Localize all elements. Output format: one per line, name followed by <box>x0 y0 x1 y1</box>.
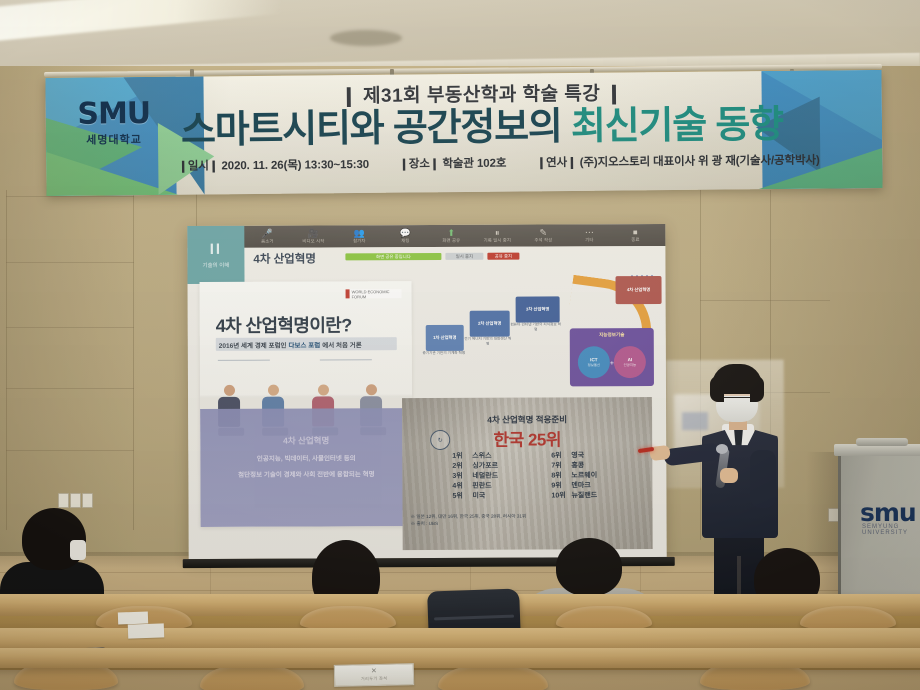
handout-paper <box>118 611 148 624</box>
pause-icon: ⏸ <box>475 228 519 238</box>
rank-row: 8위노르웨이 <box>551 471 632 481</box>
rank-row: 10위뉴질랜드 <box>551 491 632 501</box>
social-distancing-placard: ✕ 거리두기 좌석 <box>334 663 414 687</box>
camera-icon: 🎥 <box>291 228 335 238</box>
wall-outlet <box>58 493 69 508</box>
diagram-box-1: 1차 산업혁명 <box>426 325 464 351</box>
diagram-caption-3: 컴퓨터·인터넷 기반의 지식정보 혁명 <box>510 322 562 332</box>
wall-seam <box>700 300 830 301</box>
microphone-icon: 🎤 <box>245 229 289 239</box>
toolbar-share-label: 화면 공유 <box>429 238 473 244</box>
desk-row-1 <box>0 648 920 668</box>
wall-outlet <box>70 493 81 508</box>
toolbar-participants[interactable]: 👥 참가자 <box>337 228 381 244</box>
presenter-hair-side <box>710 376 724 402</box>
seat-back <box>800 606 896 630</box>
chat-icon: 💬 <box>383 228 427 238</box>
banner-title-part1: 스마트시티와 공간정보의 <box>181 106 562 152</box>
rank-row: 4위핀란드 <box>452 481 533 491</box>
rank-row: 3위네덜란드 <box>452 471 533 481</box>
stop-icon: ⏹ <box>613 227 657 237</box>
rank-row: 9위덴마크 <box>551 481 632 491</box>
microphone-head-icon <box>716 444 728 454</box>
wall-seam <box>6 388 134 389</box>
podium-smu-logo: smu <box>860 498 916 527</box>
toolbar-participants-label: 참가자 <box>337 238 381 244</box>
attendee-left-mask <box>70 540 86 560</box>
wef-logo: WORLD ECONOMIC FORUM <box>346 289 402 298</box>
venn-diagram: 지능정보기술 ICT 정보통신 + AI 인공지능 <box>570 328 654 386</box>
podium-lip <box>856 438 908 446</box>
toolbar-mute-label: 음소거 <box>245 239 289 245</box>
wall-seam <box>6 190 7 530</box>
wall-seam <box>6 196 134 197</box>
footer-line-3: 첨단정보 기술이 경제와 사회 전반에 융합되는 혁명 <box>200 468 412 479</box>
diagram-box-4-label: 4차 산업혁명 <box>627 287 650 292</box>
rank-column-left: 1위스위스 2위싱가포르 3위네덜란드 4위핀란드 5위미국 <box>452 452 533 502</box>
wall-seam <box>6 327 134 328</box>
korea-notes: ※ 일본 12위, 대만 16위, 한국 25위, 중국 28위, 러시아 31… <box>411 514 527 528</box>
diagram-box-3-label: 3차 산업혁명 <box>526 307 549 312</box>
slide-intro-card: WORLD ECONOMIC FORUM 4차 산업혁명이란? 2016년 세계… <box>200 281 413 527</box>
footer-line-2: 인공지능, 빅데이터, 사물인터넷 등의 <box>200 452 412 463</box>
toolbar-end[interactable]: ⏹ 종료 <box>613 227 657 243</box>
banner-place-value: 학술관 102호 <box>442 157 506 170</box>
slide-section-number: II <box>210 241 222 258</box>
rank-row: 1위스위스 <box>452 452 533 462</box>
smu-logo-subtitle: 세명대학교 <box>68 131 160 148</box>
stop-share-pill[interactable]: 공유 중지 <box>487 253 519 260</box>
venn-title: 지능정보기술 <box>570 332 654 338</box>
banner-title: 스마트시티와 공간정보의 최신기술 동향 <box>178 105 786 152</box>
banner-meta: ❙일시❙ 2020. 11. 26(목) 13:30~15:30 ❙장소❙ 학술… <box>178 152 786 174</box>
pause-status-pill: 일시 중지 <box>445 253 483 260</box>
rank-column-right: 6위영국 7위홍콩 8위노르웨이 9위덴마크 10위뉴질랜드 <box>551 451 632 501</box>
diagram-box-1-label: 1차 산업혁명 <box>433 335 456 340</box>
rank-row: 2위싱가포르 <box>452 461 533 471</box>
subtitle-pre: 2016년 세계 경제 포럼인 <box>219 339 287 349</box>
banner-date-tag: ❙일시❙ <box>178 160 218 172</box>
screen-surface: 🎤 음소거 🎥 비디오 시작 👥 참가자 💬 채팅 ⬆ 화면 공유 <box>187 224 666 559</box>
screen-share-icon: ⬆ <box>429 228 473 238</box>
subtitle-post: 에서 처음 거론 <box>322 339 362 349</box>
conference-toolbar[interactable]: 🎤 음소거 🎥 비디오 시작 👥 참가자 💬 채팅 ⬆ 화면 공유 <box>187 224 666 248</box>
ceiling-light-strip <box>0 0 281 42</box>
revolution-diagram: 1차 산업혁명 증기기관 기반의 기계화 혁명 2차 산업혁명 전기 에너지 기… <box>419 274 658 405</box>
wall-seam <box>6 450 134 451</box>
toolbar-annotate[interactable]: ✎ 주석 작성 <box>521 227 565 243</box>
toolbar-chat[interactable]: 💬 채팅 <box>383 228 427 244</box>
korea-note-2: ※ 출처 : UBS <box>411 521 527 528</box>
wall-seam <box>6 262 134 263</box>
card-rule <box>320 359 372 360</box>
venn-right-sub: 인공지능 <box>624 362 637 367</box>
event-banner: SMU 세명대학교 ❙ 제31회 부동산학과 학술 특강 ❙ 스마트시티와 공간… <box>45 70 882 196</box>
korea-kicker: 4차 산업혁명 적응준비 <box>402 413 652 426</box>
podium-smu-subtitle: SEMYUNG UNIVERSITY <box>862 524 920 536</box>
seat-back <box>556 606 652 630</box>
toolbar-end-label: 종료 <box>613 237 657 243</box>
rank-row: 6위영국 <box>551 451 632 461</box>
banner-place-tag: ❙장소❙ <box>399 158 439 170</box>
venn-circle-right: AI 인공지능 <box>614 346 646 378</box>
placard-text: 거리두기 좌석 <box>335 675 413 683</box>
diagram-box-2-label: 2차 산업혁명 <box>478 321 501 326</box>
korea-rank-title: 한국 25위 <box>402 425 652 451</box>
slide-section-label: 기술의 이해 <box>203 261 230 269</box>
smu-university-logo: SMU 세명대학교 <box>68 99 160 148</box>
projection-screen: 🎤 음소거 🎥 비디오 시작 👥 참가자 💬 채팅 ⬆ 화면 공유 <box>187 224 666 559</box>
seat-back <box>300 606 396 630</box>
banner-title-part2: 최신기술 동향 <box>571 104 783 148</box>
placard-x-icon: ✕ <box>335 666 413 676</box>
rank-row: 5위미국 <box>452 491 533 501</box>
banner-speaker-tag: ❙연사❙ <box>536 157 576 169</box>
toolbar-chat-label: 채팅 <box>383 238 427 244</box>
banner-date-value: 2020. 11. 26(목) 13:30~15:30 <box>221 159 369 172</box>
presenter-right-arm <box>750 450 776 508</box>
slide-header: 4차 산업혁명 <box>253 250 316 266</box>
toolbar-annotate-label: 주석 작성 <box>521 237 565 243</box>
banner-text-block: ❙ 제31회 부동산학과 학술 특강 ❙ 스마트시티와 공간정보의 최신기술 동… <box>178 77 787 174</box>
toolbar-video[interactable]: 🎥 비디오 시작 <box>291 228 335 244</box>
ceiling-vent <box>330 30 402 46</box>
wall-seam <box>133 190 134 530</box>
toolbar-video-label: 비디오 시작 <box>291 238 335 244</box>
slide-card-subtitle: 2016년 세계 경제 포럼인 다보스 포럼 에서 처음 거론 <box>216 337 397 351</box>
more-icon: ⋯ <box>567 227 611 237</box>
korea-ranking-panel: ↻ 4차 산업혁명 적응준비 한국 25위 1위스위스 2위싱가포르 3위네덜란… <box>402 397 653 550</box>
slide-card-footer: 4차 산업혁명 인공지능, 빅데이터, 사물인터넷 등의 첨단정보 기술이 경제… <box>200 408 413 527</box>
toolbar-share[interactable]: ⬆ 화면 공유 <box>429 228 473 244</box>
handout-paper <box>128 623 164 638</box>
toolbar-pause-label: 기록 일시 중지 <box>475 238 519 244</box>
toolbar-more-label: 기타 <box>567 237 611 243</box>
lecture-hall-photo: SMU 세명대학교 ❙ 제31회 부동산학과 학술 특강 ❙ 스마트시티와 공간… <box>0 0 920 690</box>
smu-logo-mark: SMU <box>68 99 160 130</box>
diagram-box-4: 4차 산업혁명 <box>615 276 661 304</box>
toolbar-pause[interactable]: ⏸ 기록 일시 중지 <box>475 228 519 244</box>
toolbar-more[interactable]: ⋯ 기타 <box>567 227 611 243</box>
slide-card-title: 4차 산업혁명이란? <box>216 311 352 338</box>
presenter-hair-side <box>750 376 764 402</box>
diagram-box-3: 3차 산업혁명 <box>516 296 560 322</box>
bag-flap <box>434 615 514 621</box>
rank-row: 7위홍콩 <box>551 461 632 471</box>
share-status-pill: 화면 공유 중입니다 <box>345 253 441 260</box>
diagram-box-2: 2차 산업혁명 <box>470 311 510 337</box>
footer-line-1: 4차 산업혁명 <box>200 434 412 447</box>
participants-icon: 👥 <box>337 228 381 238</box>
presenter-right-hand <box>720 468 738 483</box>
banner-speaker-value: (주)지오스토리 대표이사 위 광 재(기술사/공학박사) <box>580 154 820 168</box>
presentation-slide: II 기술의 이해 4차 산업혁명 화면 공유 중입니다 일시 중지 공유 중지… <box>187 246 666 559</box>
pencil-icon: ✎ <box>521 227 565 237</box>
korea-rank-columns: 1위스위스 2위싱가포르 3위네덜란드 4위핀란드 5위미국 6위영국 7위홍콩… <box>452 451 632 501</box>
toolbar-mute[interactable]: 🎤 음소거 <box>245 229 289 245</box>
wall-outlet <box>82 493 93 508</box>
card-rule <box>218 360 270 361</box>
diagram-caption-2: 전기 에너지 기반의 대량생산 혁명 <box>464 337 512 347</box>
subtitle-highlight: 다보스 포럼 <box>288 339 320 349</box>
korea-ranking-content: ↻ 4차 산업혁명 적응준비 한국 25위 1위스위스 2위싱가포르 3위네덜란… <box>402 397 653 550</box>
diagram-caption-1: 증기기관 기반의 기계화 혁명 <box>420 351 468 356</box>
slide-section-badge: II 기술의 이해 <box>187 226 244 284</box>
